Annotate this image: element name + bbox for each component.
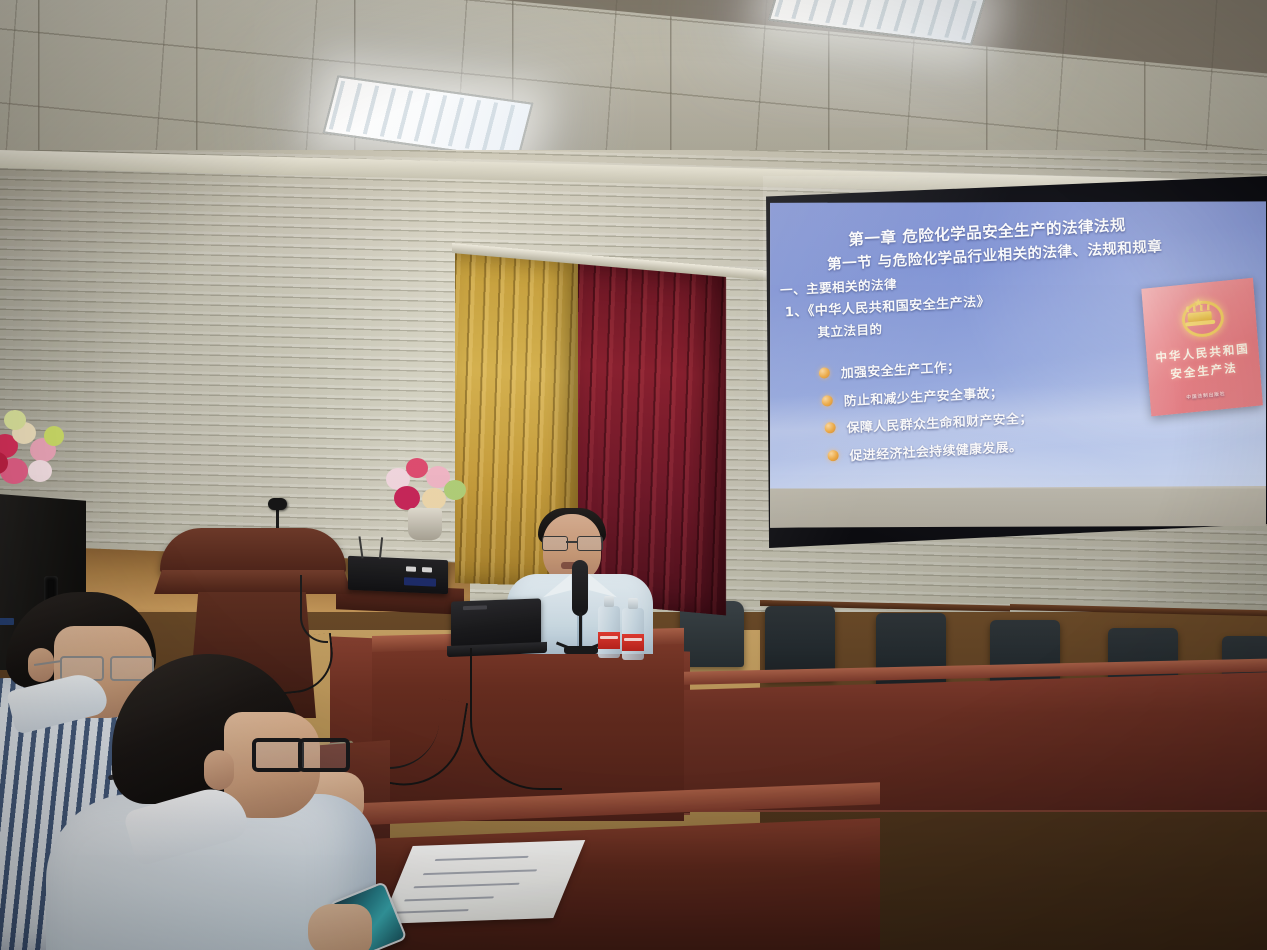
lens-right [577, 536, 603, 551]
bottle-label-text [624, 638, 642, 641]
desk-microphone [560, 560, 600, 658]
conference-room-photo: 第一章 危险化学品安全生产的法律法规 第一节 与危险化学品行业相关的法律、法规和… [0, 0, 1267, 950]
slide-bullet-1-text: 加强安全生产工作； [841, 356, 961, 381]
microphone-head-icon [572, 560, 588, 616]
ear [28, 648, 54, 682]
flower [28, 460, 52, 482]
bullet-dot-icon [819, 367, 830, 379]
flower-vase [408, 508, 442, 540]
flower-arrangement-center [382, 456, 478, 540]
flower [394, 486, 420, 510]
av-equipment-rack [348, 556, 448, 594]
slide-bullet-2-text: 防止和减少生产安全事故； [844, 381, 1004, 409]
av-display [404, 577, 436, 586]
microphone-stem [579, 612, 582, 650]
slide-content: 第一章 危险化学品安全生产的法律法规 第一节 与危险化学品行业相关的法律、法规和… [770, 201, 1266, 489]
screen-unlit-area [770, 488, 1266, 527]
flower [406, 458, 428, 478]
lectern-microphone-icon [268, 498, 287, 510]
slide-bullet-3-text: 保障人民群众生命和财产安全； [846, 407, 1033, 436]
flower-arrangement-left [0, 404, 78, 498]
flower-foliage [44, 426, 64, 446]
book-gloss [1141, 277, 1263, 416]
bottle-label [622, 634, 644, 651]
water-bottle [622, 598, 644, 660]
lens-right [298, 738, 350, 772]
handwriting-line [435, 856, 529, 861]
slide-bullet-1: 加强安全生产工作； [819, 356, 961, 383]
ear [204, 750, 234, 790]
glasses-bridge [566, 541, 577, 543]
flower-foliage [4, 410, 26, 430]
slide-subheading: 其立法目的 [817, 318, 883, 341]
handwritten-document [381, 840, 586, 924]
lens-left [252, 738, 304, 772]
flower-foliage [444, 480, 466, 500]
handwriting-line [423, 869, 537, 875]
law-book-cover-image: ★ 中华人民共和国 安全生产法 中国法制出版社 [1141, 277, 1263, 416]
av-led-indicator [422, 567, 432, 572]
flower [422, 488, 446, 510]
lens-left [542, 536, 568, 551]
projection-screen: 第一章 危险化学品安全生产的法律法规 第一节 与危险化学品行业相关的法律、法规和… [763, 176, 1267, 548]
slide-bullet-2: 防止和减少生产安全事故； [822, 381, 1004, 410]
microphone-base [564, 646, 598, 654]
bullet-dot-icon [825, 422, 836, 434]
bullet-dot-icon [828, 449, 839, 461]
slide-bullet-4: 促进经济社会持续健康发展。 [827, 435, 1022, 465]
water-bottle [598, 596, 620, 658]
slide-bullet-4-text: 促进经济社会持续健康发展。 [849, 435, 1022, 463]
projected-slide: 第一章 危险化学品安全生产的法律法规 第一节 与危险化学品行业相关的法律、法规和… [770, 201, 1266, 489]
bottle-cap [604, 596, 614, 607]
laptop-logo [463, 605, 487, 610]
slide-heading-1: 一、主要相关的法律 [780, 273, 897, 298]
lectern-top [160, 528, 346, 574]
audience-member-white-shirt [56, 654, 386, 950]
bullet-dot-icon [822, 395, 833, 407]
av-led-indicator [406, 566, 416, 571]
handwriting-line [404, 896, 494, 901]
handwriting-line [395, 909, 469, 914]
bottle-cap [628, 598, 638, 609]
laptop-lid [451, 598, 541, 647]
eyeglasses-icon [541, 536, 603, 549]
bottle-label-text [600, 636, 618, 639]
hand [308, 904, 372, 950]
eyeglasses-icon [252, 738, 338, 766]
slide-bullet-3: 保障人民群众生命和财产安全； [824, 407, 1032, 437]
handwriting-line [413, 883, 519, 889]
bottle-label [598, 632, 620, 649]
